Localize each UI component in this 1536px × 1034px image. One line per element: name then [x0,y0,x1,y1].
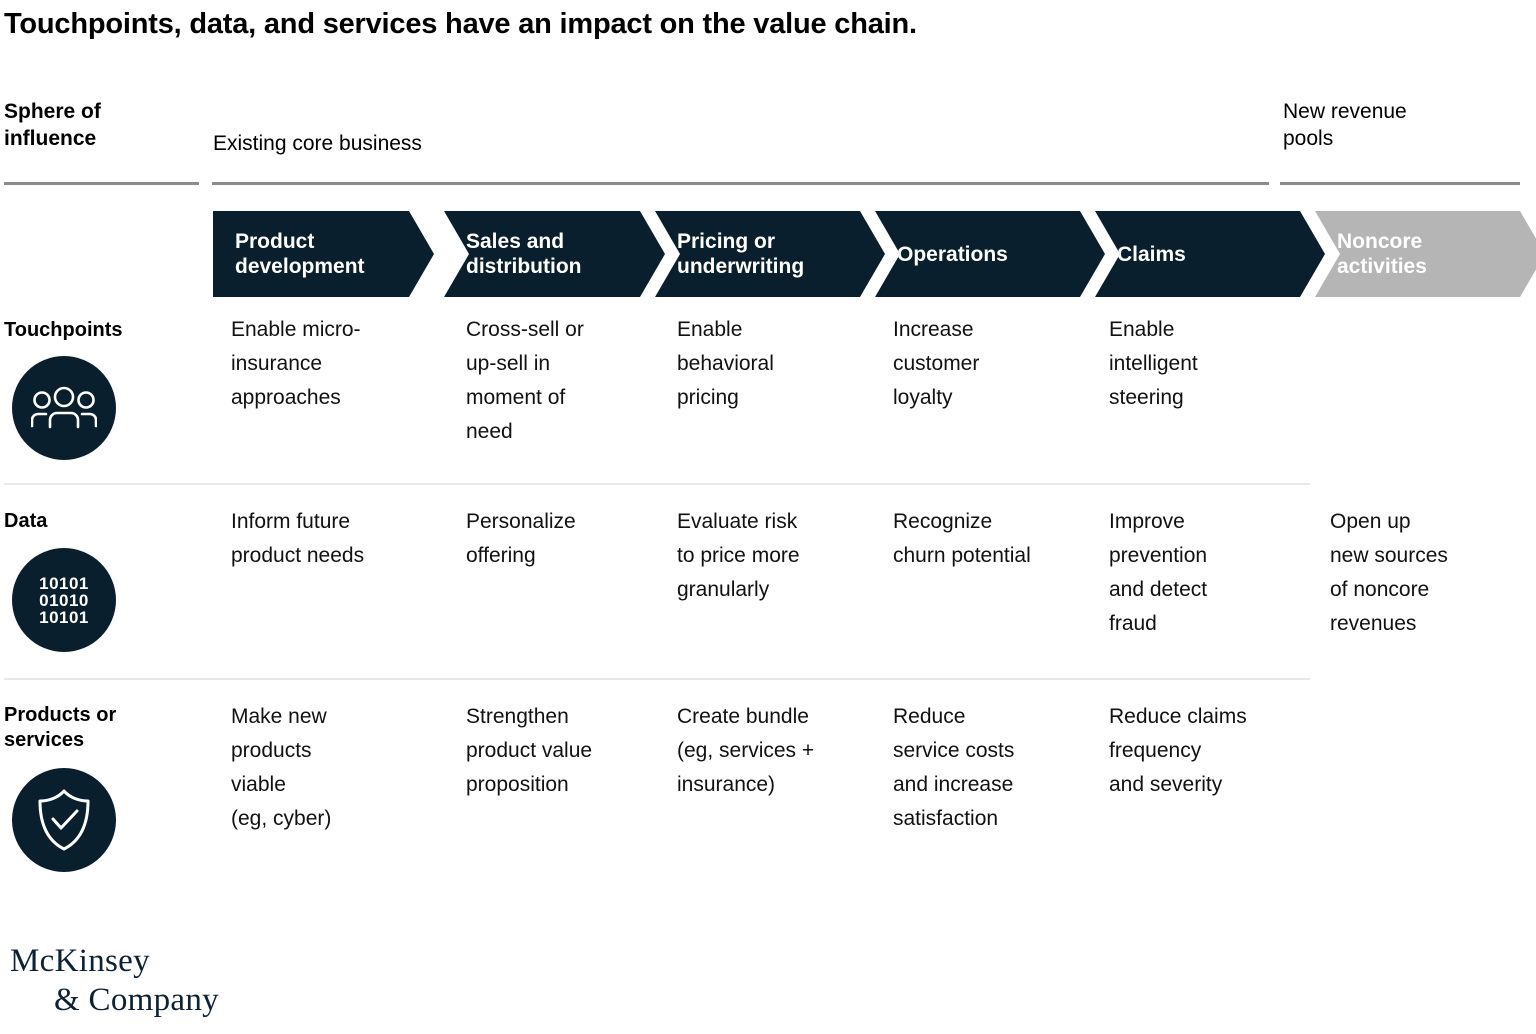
stage-label: Noncore activities [1315,229,1437,279]
shield-check-icon [12,768,116,872]
stage-label: Operations [875,242,1018,267]
stage-chevron-pricing-or-underwriting[interactable]: Pricing or underwriting [655,211,885,297]
people-icon [12,356,116,460]
page-title: Touchpoints, data, and services have an … [4,6,1504,42]
value-chain-stages: Product development Sales and distributi… [213,211,1523,297]
cell-touchpoints-operations: Increase customer loyalty [893,313,1093,415]
stage-chevron-claims[interactable]: Claims [1095,211,1325,297]
cell-touchpoints-pricing-or-underwriting: Enable behavioral pricing [677,313,882,415]
stage-chevron-sales-and-distribution[interactable]: Sales and distribution [444,211,665,297]
new-revenue-pools-label: New revenue pools [1283,98,1533,152]
cell-data-product-development: Inform future product needs [231,505,441,573]
cell-products-operations: Reduce service costs and increase satisf… [893,700,1098,836]
core-header-divider [212,182,1269,185]
stage-chevron-product-development[interactable]: Product development [213,211,434,297]
cell-touchpoints-sales-and-distribution: Cross-sell or up-sell in moment of need [466,313,671,449]
cell-data-pricing-or-underwriting: Evaluate risk to price more granularly [677,505,887,607]
stage-label: Product development [213,229,375,279]
new-revenue-header-divider [1280,182,1520,185]
row-divider-1 [4,483,1310,485]
logo-line-2: & Company [10,981,219,1020]
cell-data-operations: Recognize churn potential [893,505,1108,573]
binary-icon: 10101 01010 10101 [12,548,116,652]
cell-data-noncore-activities: Open up new sources of noncore revenues [1330,505,1530,641]
existing-core-business-label: Existing core business [213,130,1013,157]
cell-touchpoints-claims: Enable intelligent steering [1109,313,1309,415]
stage-label: Sales and distribution [444,229,591,279]
cell-products-sales-and-distribution: Strengthen product value proposition [466,700,671,802]
cell-products-product-development: Make new products viable (eg, cyber) [231,700,436,836]
cell-data-claims: Improve prevention and detect fraud [1109,505,1309,641]
row-title-products-or-services: Products or services [4,703,204,753]
sphere-of-influence-label: Sphere of influence [4,98,194,152]
stage-chevron-operations[interactable]: Operations [875,211,1105,297]
cell-products-pricing-or-underwriting: Create bundle (eg, services + insurance) [677,700,889,802]
cell-data-sales-and-distribution: Personalize offering [466,505,671,573]
row-title-data: Data [4,509,204,534]
stage-label: Claims [1095,242,1196,267]
mckinsey-logo: McKinsey & Company [10,942,219,1020]
row-title-touchpoints: Touchpoints [4,318,204,343]
cell-products-claims: Reduce claims frequency and severity [1109,700,1319,802]
sphere-header-divider [4,182,199,185]
stage-chevron-noncore-activities[interactable]: Noncore activities [1315,211,1536,297]
binary-icon-text: 10101 01010 10101 [39,575,89,626]
row-divider-2 [4,678,1310,680]
cell-touchpoints-product-development: Enable micro- insurance approaches [231,313,436,415]
stage-label: Pricing or underwriting [655,229,814,279]
logo-line-1: McKinsey [10,942,219,981]
